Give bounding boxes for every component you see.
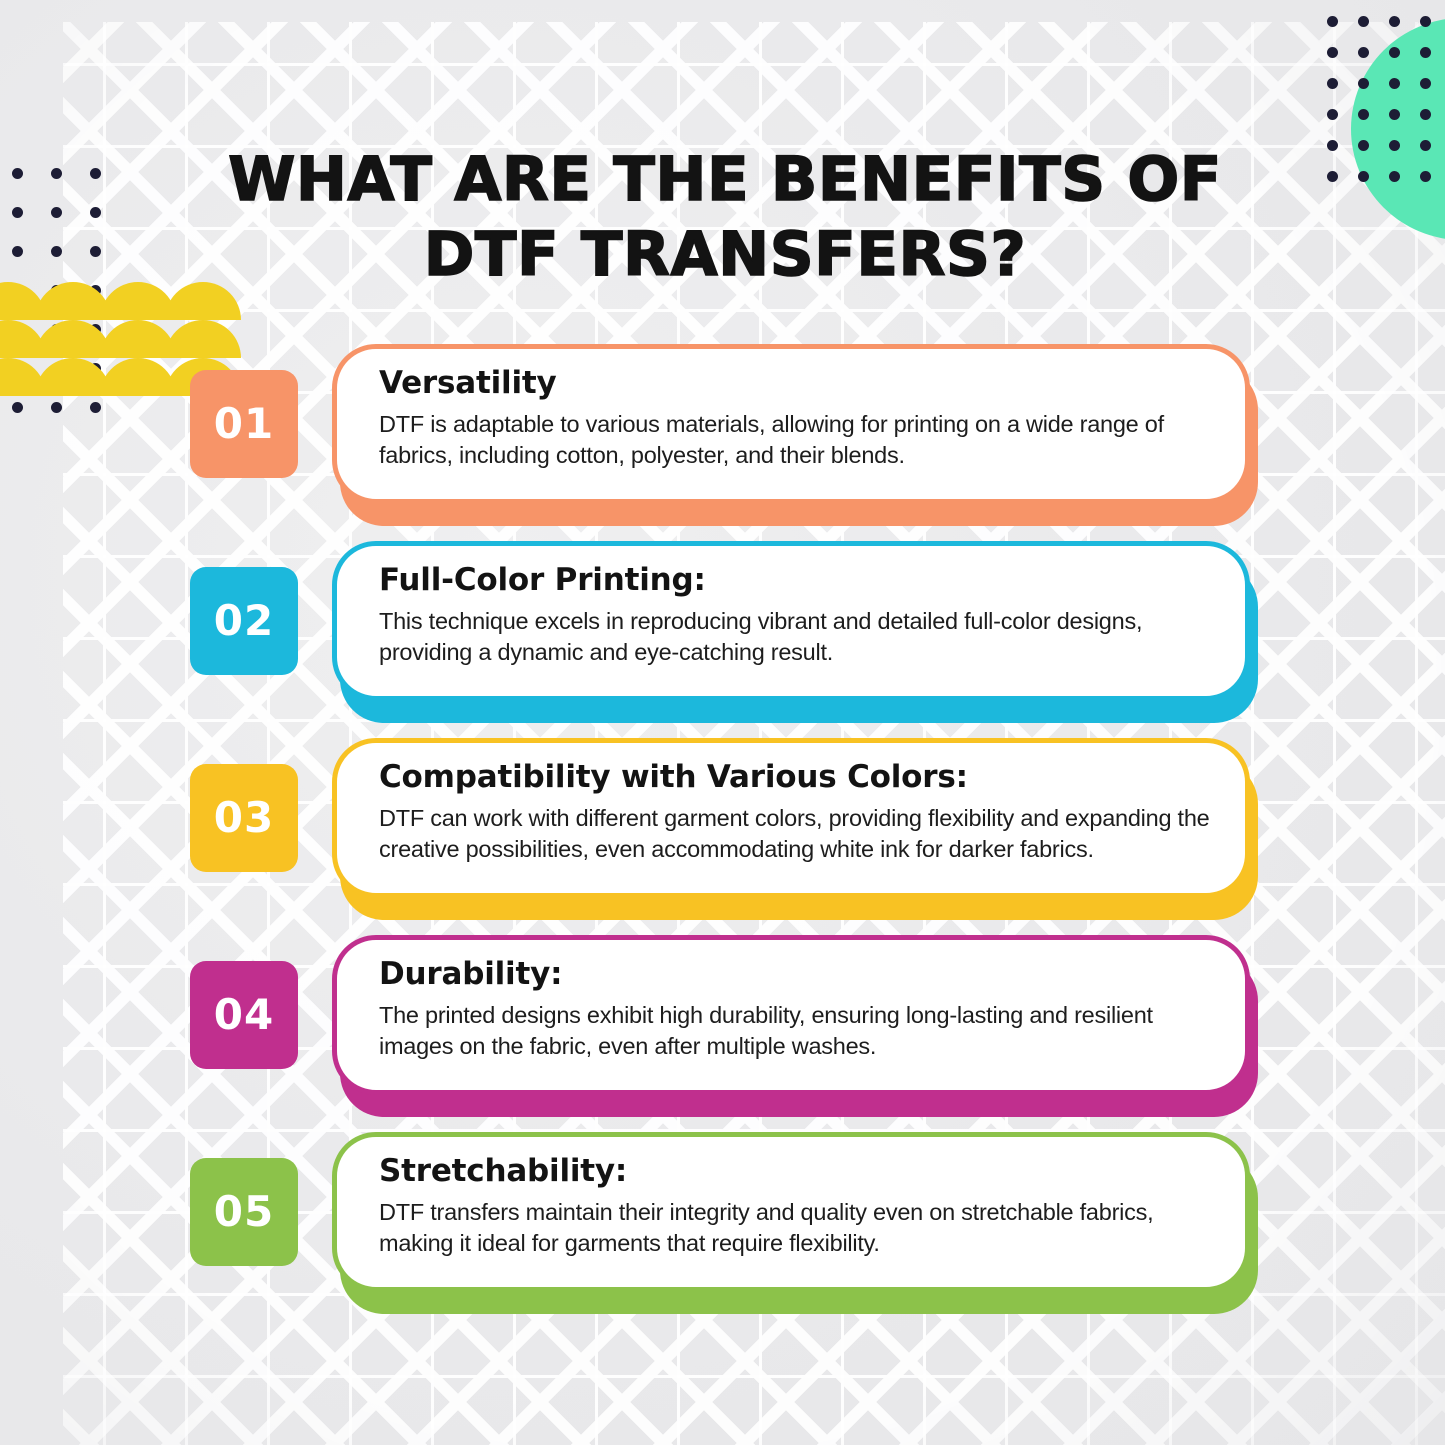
benefit-card[interactable]: 02Full-Color Printing:This technique exc… xyxy=(0,541,1445,737)
card-heading: Versatility xyxy=(379,363,1211,403)
card-content: VersatilityDTF is adaptable to various m… xyxy=(332,344,1250,504)
card-number-badge: 02 xyxy=(190,567,298,675)
card-number-badge: 03 xyxy=(190,764,298,872)
card-description: DTF can work with different garment colo… xyxy=(379,803,1211,865)
card-body-wrapper: Durability:The printed designs exhibit h… xyxy=(332,935,1272,1125)
card-body-wrapper: VersatilityDTF is adaptable to various m… xyxy=(332,344,1272,534)
card-heading: Full-Color Printing: xyxy=(379,560,1211,600)
benefit-card[interactable]: 01VersatilityDTF is adaptable to various… xyxy=(0,344,1445,540)
infographic-canvas: WHAT ARE THE BENEFITS OF DTF TRANSFERS? … xyxy=(0,0,1445,1445)
benefit-card[interactable]: 04Durability:The printed designs exhibit… xyxy=(0,935,1445,1131)
card-number-badge: 04 xyxy=(190,961,298,1069)
card-content: Compatibility with Various Colors:DTF ca… xyxy=(332,738,1250,898)
card-body-wrapper: Compatibility with Various Colors:DTF ca… xyxy=(332,738,1272,928)
card-body-wrapper: Stretchability:DTF transfers maintain th… xyxy=(332,1132,1272,1322)
card-content: Full-Color Printing:This technique excel… xyxy=(332,541,1250,701)
card-heading: Compatibility with Various Colors: xyxy=(379,757,1211,797)
card-heading: Stretchability: xyxy=(379,1151,1211,1191)
card-content: Stretchability:DTF transfers maintain th… xyxy=(332,1132,1250,1292)
card-description: This technique excels in reproducing vib… xyxy=(379,606,1211,668)
benefit-card[interactable]: 03Compatibility with Various Colors:DTF … xyxy=(0,738,1445,934)
benefit-card[interactable]: 05Stretchability:DTF transfers maintain … xyxy=(0,1132,1445,1328)
card-number-badge: 05 xyxy=(190,1158,298,1266)
card-description: The printed designs exhibit high durabil… xyxy=(379,1000,1211,1062)
card-number-badge: 01 xyxy=(190,370,298,478)
card-content: Durability:The printed designs exhibit h… xyxy=(332,935,1250,1095)
card-body-wrapper: Full-Color Printing:This technique excel… xyxy=(332,541,1272,731)
card-description: DTF is adaptable to various materials, a… xyxy=(379,409,1211,471)
benefit-card-list: 01VersatilityDTF is adaptable to various… xyxy=(0,0,1445,1445)
card-description: DTF transfers maintain their integrity a… xyxy=(379,1197,1211,1259)
card-heading: Durability: xyxy=(379,954,1211,994)
